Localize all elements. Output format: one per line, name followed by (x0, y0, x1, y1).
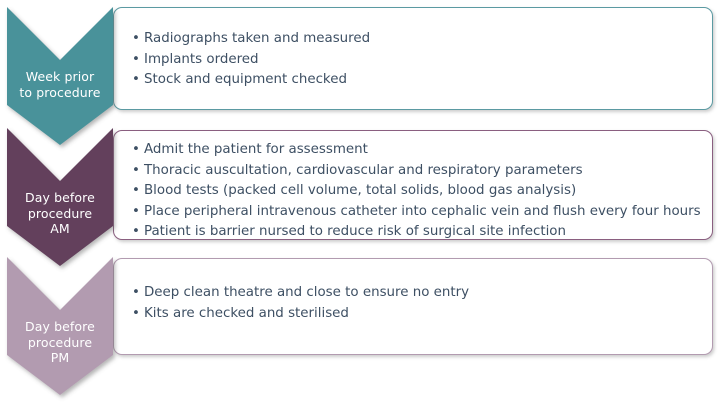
list-item: Place peripheral intravenous catheter in… (132, 202, 698, 223)
stage-chevron: Week priorto procedure (7, 7, 113, 145)
list-item: Stock and equipment checked (132, 70, 698, 91)
list-item: Thoracic auscultation, cardiovascular an… (132, 161, 698, 182)
list-item: Patient is barrier nursed to reduce risk… (132, 222, 698, 243)
list-item: Blood tests (packed cell volume, total s… (132, 181, 698, 202)
stage-content-panel: Radiographs taken and measuredImplants o… (113, 7, 713, 110)
list-item: Radiographs taken and measured (132, 29, 698, 50)
list-item: Admit the patient for assessment (132, 140, 698, 161)
stage-item-list: Deep clean theatre and close to ensure n… (132, 283, 698, 324)
stage-item-list: Radiographs taken and measuredImplants o… (132, 29, 698, 91)
stage-chevron: Day beforeprocedurePM (7, 257, 113, 395)
chevron-timeline-diagram: Radiographs taken and measuredImplants o… (0, 0, 720, 411)
chevron-shape-icon (7, 257, 121, 403)
list-item: Deep clean theatre and close to ensure n… (132, 283, 698, 304)
list-item: Implants ordered (132, 50, 698, 71)
chevron-shape-icon (7, 128, 121, 274)
list-item: Kits are checked and sterilised (132, 304, 698, 325)
stage-chevron: Day beforeprocedureAM (7, 128, 113, 266)
stage-item-list: Admit the patient for assessmentThoracic… (132, 140, 698, 243)
stage-content-panel: Deep clean theatre and close to ensure n… (113, 258, 713, 355)
stage-content-panel: Admit the patient for assessmentThoracic… (113, 130, 713, 240)
